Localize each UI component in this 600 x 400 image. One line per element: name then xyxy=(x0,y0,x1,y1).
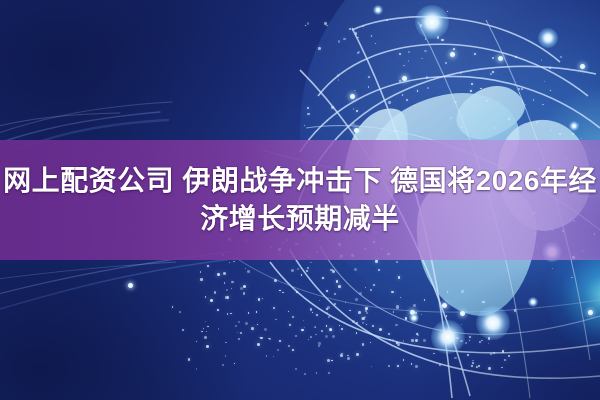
particle xyxy=(425,38,427,40)
particle xyxy=(291,269,294,272)
particle xyxy=(395,324,398,327)
particle xyxy=(357,52,359,54)
particle xyxy=(259,337,261,339)
particle xyxy=(388,101,391,104)
particle xyxy=(447,291,449,293)
particle xyxy=(481,340,482,341)
particle xyxy=(334,303,336,305)
particle xyxy=(318,345,320,347)
particle xyxy=(237,332,238,333)
particle xyxy=(397,343,400,346)
particle xyxy=(366,312,368,314)
particle xyxy=(326,308,328,310)
particle xyxy=(445,62,448,65)
particle xyxy=(368,86,370,88)
particle xyxy=(354,268,357,271)
particle xyxy=(262,298,264,300)
particle xyxy=(224,282,226,284)
particle xyxy=(357,37,358,38)
particle xyxy=(225,355,226,356)
particle xyxy=(188,358,190,360)
particle xyxy=(200,278,203,281)
particle xyxy=(279,290,281,292)
particle xyxy=(416,333,418,335)
particle xyxy=(490,353,492,355)
particle xyxy=(356,332,358,334)
particle xyxy=(403,359,404,360)
particle xyxy=(469,340,470,341)
particle xyxy=(179,311,181,313)
particle xyxy=(462,115,463,116)
particle xyxy=(297,268,299,270)
particle xyxy=(303,320,305,322)
particle xyxy=(405,317,407,319)
particle xyxy=(493,352,495,354)
particle xyxy=(230,313,232,315)
particle xyxy=(207,265,209,267)
particle xyxy=(421,58,423,60)
particle xyxy=(210,299,213,302)
particle xyxy=(400,297,401,298)
particle xyxy=(413,304,416,307)
particle xyxy=(196,341,197,342)
particle xyxy=(368,76,370,78)
particle xyxy=(331,360,333,362)
particle xyxy=(469,336,471,338)
particle xyxy=(460,72,462,74)
particle xyxy=(231,281,233,283)
particle xyxy=(488,343,489,344)
particle xyxy=(378,269,380,271)
particle xyxy=(559,133,561,135)
particle xyxy=(347,357,350,360)
particle xyxy=(257,343,260,346)
particle xyxy=(292,349,294,351)
particle xyxy=(315,334,316,335)
particle xyxy=(411,363,413,365)
particle xyxy=(340,354,343,357)
particle xyxy=(203,328,205,330)
particle xyxy=(542,104,544,106)
particle xyxy=(386,19,388,21)
particle xyxy=(266,355,268,357)
particle xyxy=(338,285,341,288)
particle xyxy=(396,261,398,263)
particle xyxy=(406,99,408,101)
particle xyxy=(316,314,318,316)
particle xyxy=(307,113,310,116)
particle xyxy=(488,367,491,370)
particle xyxy=(222,364,224,366)
particle xyxy=(247,270,250,273)
particle xyxy=(356,322,358,324)
particle xyxy=(388,333,390,335)
particle xyxy=(326,312,328,314)
particle xyxy=(465,342,467,344)
particle xyxy=(321,330,323,332)
particle xyxy=(415,365,418,368)
particle xyxy=(420,24,423,27)
particle xyxy=(398,276,400,278)
particle xyxy=(258,298,261,301)
particle xyxy=(206,345,209,348)
particle xyxy=(233,261,235,263)
particle xyxy=(403,65,405,67)
particle xyxy=(356,353,359,356)
particle xyxy=(362,322,364,324)
particle xyxy=(325,335,328,338)
particle xyxy=(336,280,338,282)
particle xyxy=(328,316,330,318)
particle xyxy=(456,337,458,339)
particle xyxy=(437,36,440,39)
particle xyxy=(240,332,242,334)
particle xyxy=(349,310,351,312)
particle xyxy=(492,57,494,59)
particle xyxy=(248,312,250,314)
headline-line-1: 网上配资公司 伊朗战争冲击下 德国将2026年经 xyxy=(3,163,597,199)
particle xyxy=(426,76,429,79)
particle xyxy=(296,291,298,293)
particle xyxy=(277,349,279,351)
particle xyxy=(289,324,291,326)
particle xyxy=(394,130,396,132)
particle xyxy=(399,80,401,82)
particle xyxy=(441,39,443,41)
particle xyxy=(334,293,336,295)
particle xyxy=(307,267,309,269)
particle xyxy=(482,301,485,304)
particle xyxy=(578,124,579,125)
particle xyxy=(304,373,306,375)
particle xyxy=(353,108,354,109)
particle xyxy=(292,316,294,318)
particle xyxy=(306,270,308,272)
particle xyxy=(365,307,368,310)
particle xyxy=(355,32,357,34)
particle xyxy=(256,311,258,313)
particle xyxy=(288,311,290,313)
particle xyxy=(492,71,494,73)
particle xyxy=(508,118,510,120)
particle xyxy=(273,356,274,357)
particle xyxy=(172,306,174,308)
particle xyxy=(214,291,217,294)
headline-line-2: 济增长预期减半 xyxy=(200,201,400,237)
particle xyxy=(307,107,309,109)
particle xyxy=(310,308,312,310)
particle xyxy=(279,340,281,342)
particle xyxy=(501,367,502,368)
particle xyxy=(301,274,303,276)
particle xyxy=(365,310,367,312)
particle xyxy=(245,322,248,325)
particle xyxy=(338,79,339,80)
particle xyxy=(461,126,463,128)
particle xyxy=(426,20,427,21)
particle xyxy=(238,338,240,340)
particle xyxy=(518,88,520,90)
particle xyxy=(454,101,456,103)
particle xyxy=(343,38,346,41)
particle xyxy=(488,337,490,339)
particle xyxy=(356,110,358,112)
particle xyxy=(423,339,426,342)
particle xyxy=(354,90,355,91)
particle xyxy=(217,273,220,276)
headline-text-block: 网上配资公司 伊朗战争冲击下 德国将2026年经 济增长预期减半 xyxy=(0,140,600,260)
particle xyxy=(536,121,538,123)
particle xyxy=(217,309,219,311)
particle xyxy=(264,328,267,331)
particle xyxy=(411,310,412,311)
particle xyxy=(304,125,305,126)
particle xyxy=(338,40,341,43)
particle xyxy=(379,328,382,331)
particle xyxy=(345,302,347,304)
particle xyxy=(362,343,364,345)
particle xyxy=(229,262,230,263)
particle xyxy=(391,291,394,294)
particle xyxy=(519,93,520,94)
particle xyxy=(234,363,235,364)
particle xyxy=(318,47,321,50)
particle xyxy=(572,133,574,135)
banner-image: 网上配资公司 伊朗战争冲击下 德国将2026年经 济增长预期减半 xyxy=(0,0,600,400)
particle xyxy=(243,292,246,295)
particle xyxy=(393,311,394,312)
particle xyxy=(370,342,371,343)
particle xyxy=(549,67,550,68)
particle xyxy=(327,120,328,121)
particle xyxy=(454,357,456,359)
particle xyxy=(307,22,310,25)
particle xyxy=(415,339,418,342)
particle xyxy=(366,324,367,325)
particle xyxy=(402,94,404,96)
particle xyxy=(525,104,526,105)
particle xyxy=(508,355,511,358)
particle xyxy=(490,73,492,75)
particle xyxy=(371,366,372,367)
particle xyxy=(467,354,469,356)
particle xyxy=(312,312,314,314)
particle xyxy=(504,359,506,361)
particle xyxy=(206,331,208,333)
particle xyxy=(282,292,284,294)
particle xyxy=(238,321,240,323)
particle xyxy=(308,339,309,340)
particle xyxy=(571,277,573,279)
particle xyxy=(392,339,394,341)
particle xyxy=(471,365,473,367)
particle xyxy=(231,288,232,289)
particle xyxy=(370,289,372,291)
particle xyxy=(479,341,481,343)
particle xyxy=(305,25,306,26)
particle xyxy=(227,313,229,315)
particle xyxy=(362,26,364,28)
particle xyxy=(541,59,542,60)
particle xyxy=(295,335,297,337)
particle xyxy=(226,289,228,291)
particle xyxy=(358,311,361,314)
particle xyxy=(235,325,237,327)
particle xyxy=(411,339,414,342)
particle xyxy=(275,319,277,321)
particle xyxy=(461,290,464,293)
particle xyxy=(447,11,448,12)
particle xyxy=(444,341,446,343)
particle xyxy=(544,81,545,82)
particle xyxy=(245,268,246,269)
particle xyxy=(533,99,534,100)
particle xyxy=(225,342,226,343)
particle xyxy=(474,53,476,55)
particle xyxy=(460,340,463,343)
particle xyxy=(196,368,198,370)
particle xyxy=(495,326,497,328)
particle xyxy=(478,365,480,367)
particle xyxy=(433,353,435,355)
particle xyxy=(476,367,477,368)
particle xyxy=(365,287,367,289)
particle xyxy=(269,338,271,340)
particle xyxy=(371,35,373,37)
particle xyxy=(326,25,327,26)
particle xyxy=(514,309,516,311)
particle xyxy=(408,60,410,62)
particle xyxy=(470,90,472,92)
particle xyxy=(205,321,206,322)
particle xyxy=(450,117,452,119)
particle xyxy=(550,90,551,91)
particle xyxy=(471,83,473,85)
particle xyxy=(326,290,328,292)
particle xyxy=(257,324,258,325)
particle xyxy=(316,372,318,374)
particle xyxy=(560,56,562,58)
particle xyxy=(486,100,488,102)
particle xyxy=(310,336,312,338)
particle xyxy=(200,271,201,272)
particle xyxy=(205,296,207,298)
particle xyxy=(552,268,553,269)
particle xyxy=(332,335,335,338)
particle xyxy=(424,299,426,301)
particle xyxy=(408,51,410,53)
particle xyxy=(480,88,481,89)
particle xyxy=(389,339,390,340)
particle xyxy=(415,312,417,314)
particle xyxy=(223,272,226,275)
particle xyxy=(304,327,305,328)
particle xyxy=(295,368,297,370)
particle xyxy=(388,365,390,367)
particle xyxy=(328,372,330,374)
particle xyxy=(201,331,203,333)
particle xyxy=(397,365,399,367)
particle xyxy=(373,284,375,286)
particle xyxy=(494,127,496,129)
particle xyxy=(327,359,330,362)
particle xyxy=(310,262,312,264)
particle xyxy=(341,328,344,331)
particle xyxy=(417,90,419,92)
particle xyxy=(218,328,220,330)
particle xyxy=(427,87,429,89)
particle xyxy=(319,300,320,301)
particle xyxy=(375,43,377,45)
particle xyxy=(403,340,405,342)
particle xyxy=(424,50,427,53)
particle xyxy=(461,324,462,325)
particle xyxy=(207,326,209,328)
particle xyxy=(243,285,246,288)
particle xyxy=(521,88,523,90)
particle xyxy=(421,314,423,316)
particle xyxy=(326,325,328,327)
particle xyxy=(472,362,474,364)
particle xyxy=(359,292,362,295)
particle xyxy=(330,329,332,331)
particle xyxy=(352,123,355,126)
particle xyxy=(453,48,455,50)
particle xyxy=(399,53,402,56)
particle xyxy=(414,105,415,106)
particle xyxy=(274,279,277,282)
particle xyxy=(204,336,207,339)
particle xyxy=(551,130,552,131)
particle xyxy=(439,364,441,366)
particle xyxy=(288,345,290,347)
particle xyxy=(337,74,339,76)
particle xyxy=(349,28,352,31)
particle xyxy=(396,305,399,308)
particle xyxy=(322,277,323,278)
particle xyxy=(500,117,502,119)
particle xyxy=(372,325,374,327)
particle xyxy=(515,56,517,58)
particle xyxy=(355,298,358,301)
particle xyxy=(251,327,254,330)
particle xyxy=(182,329,184,331)
particle xyxy=(446,315,447,316)
particle xyxy=(301,329,303,331)
particle xyxy=(225,296,228,299)
particle xyxy=(332,106,334,108)
particle xyxy=(273,307,275,309)
particle xyxy=(339,325,340,326)
particle xyxy=(502,350,505,353)
particle xyxy=(352,320,355,323)
